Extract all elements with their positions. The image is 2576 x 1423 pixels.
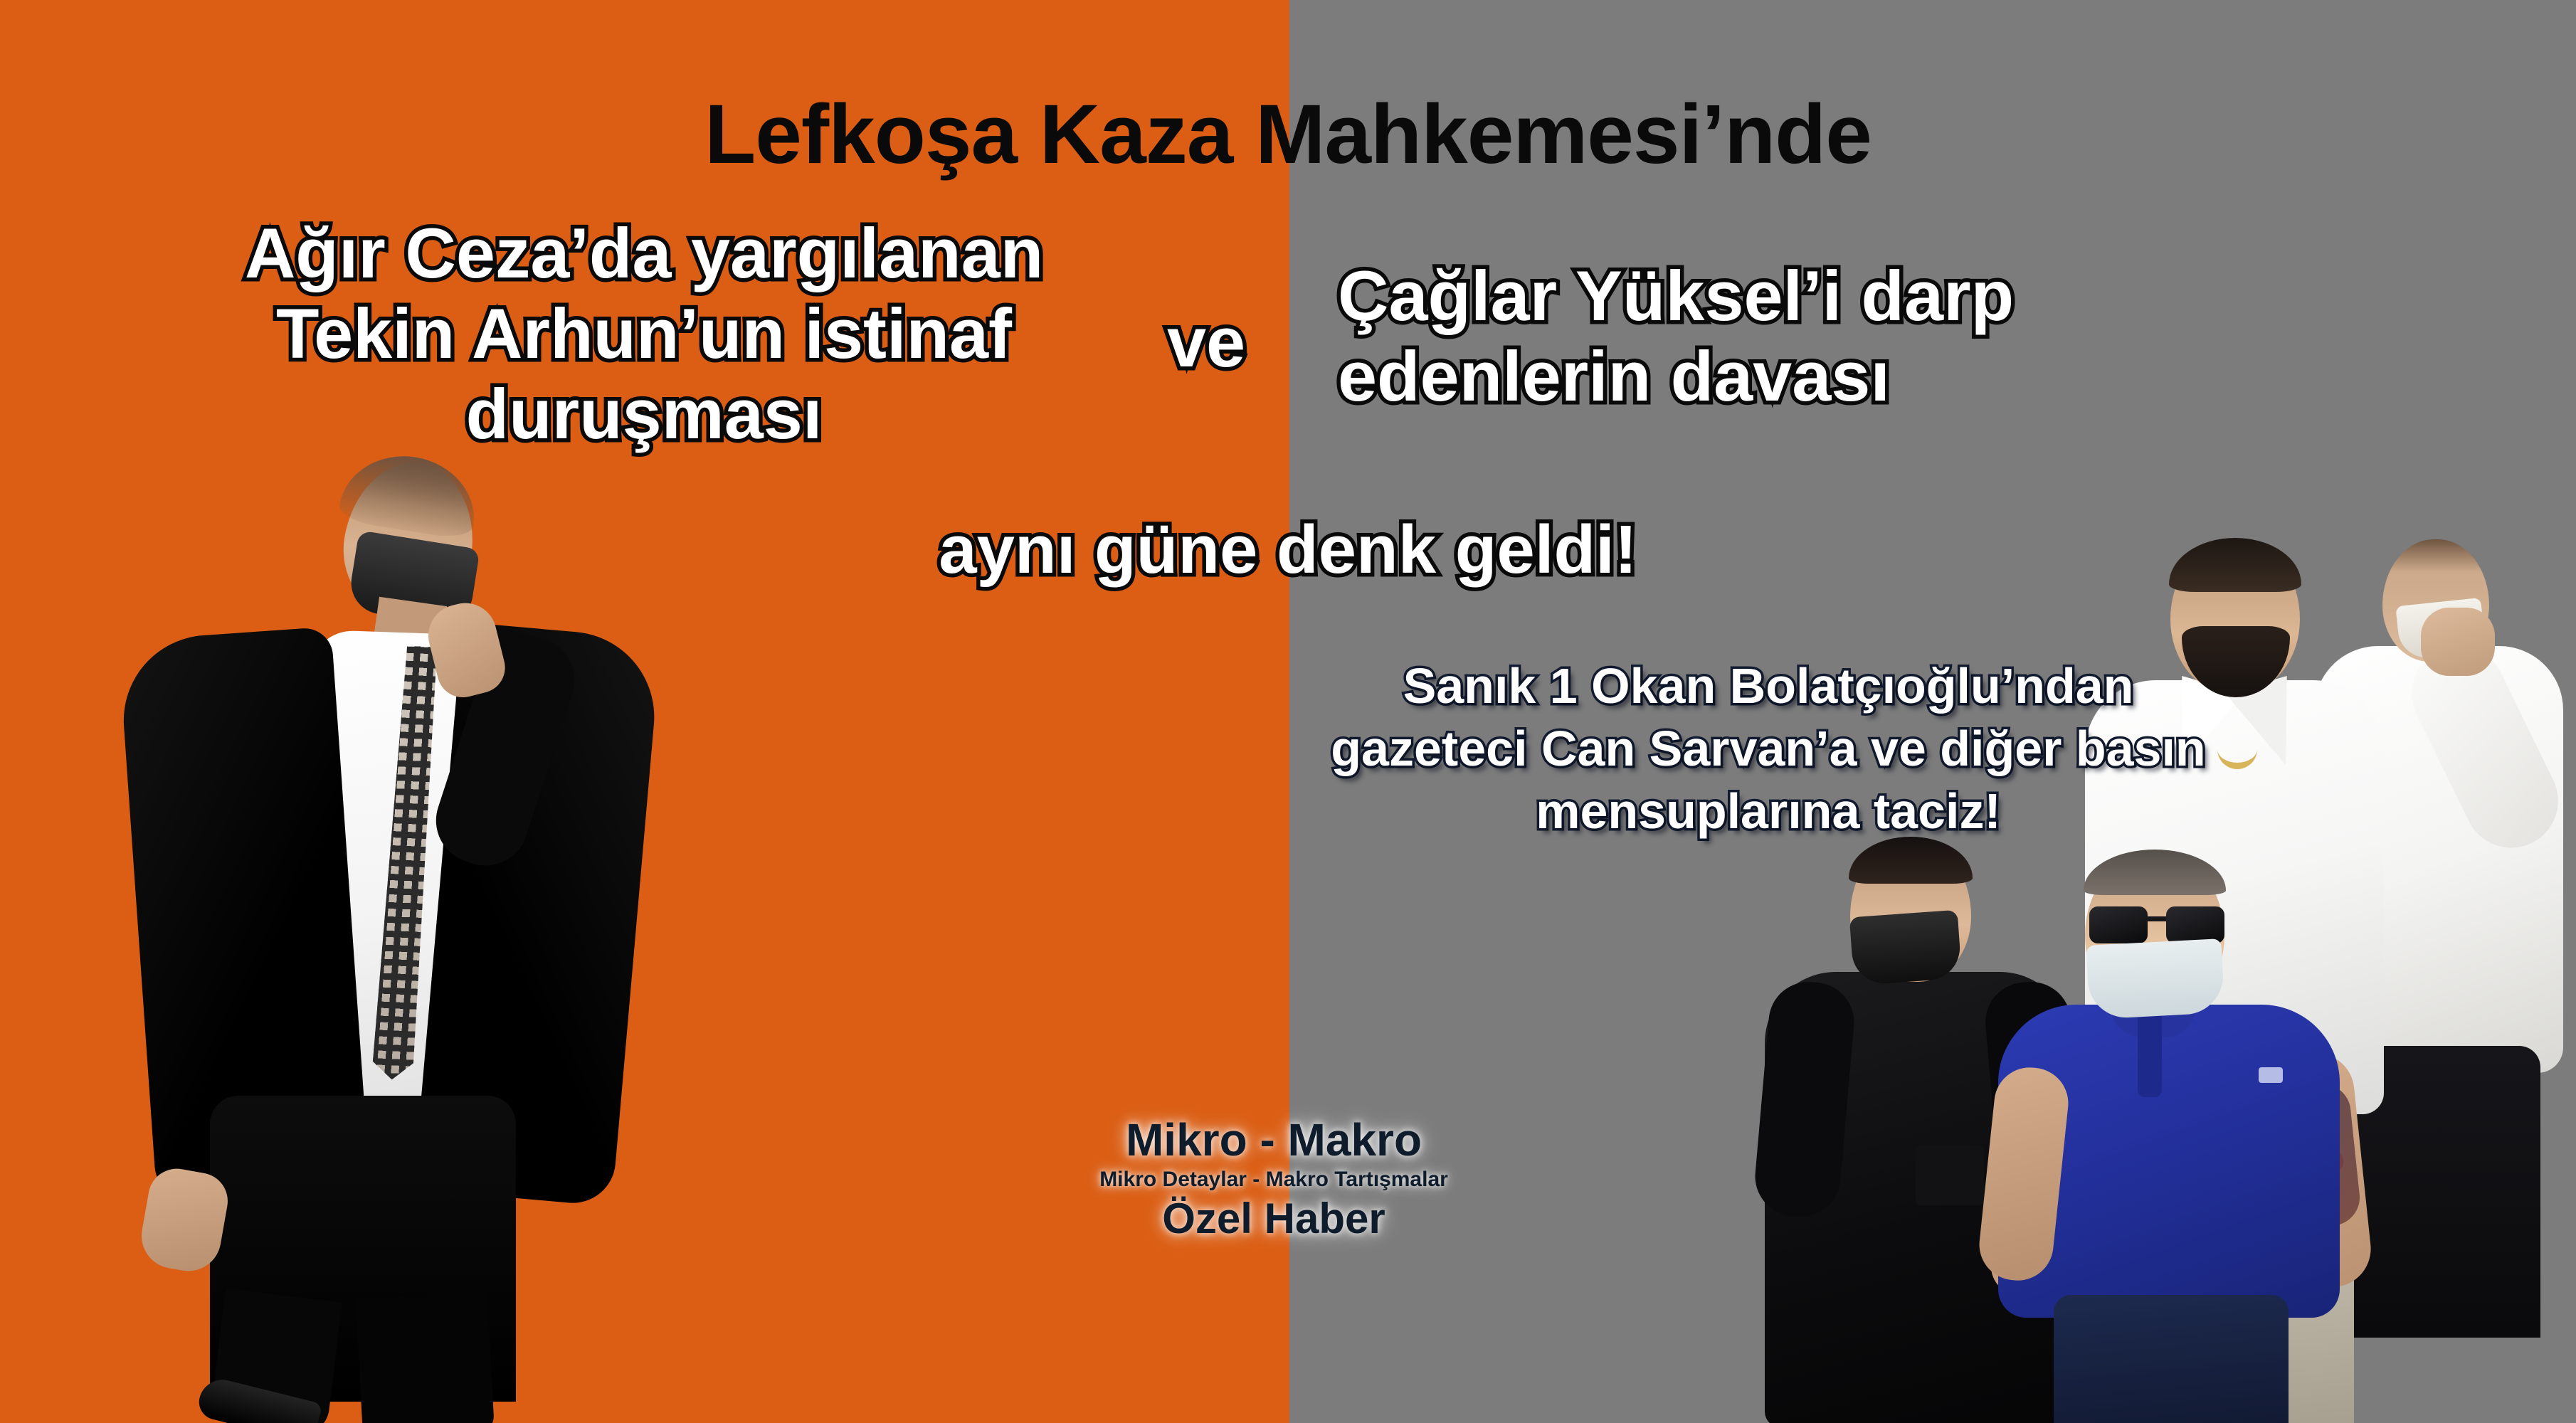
shirt-pocket — [1916, 1146, 1984, 1205]
hand-covering-face — [2421, 608, 2495, 676]
face-mask-icon — [1849, 910, 1962, 985]
face-mask-icon — [2086, 938, 2224, 1020]
subheadline-right-line-2: edenlerin davası — [1338, 337, 2192, 417]
brand-logo: Mikro - Makro Mikro Detaylar - Makro Tar… — [1039, 1117, 1509, 1242]
subheadline-center-line: aynı güne denk geldi! — [0, 511, 2576, 588]
hair — [1849, 837, 1973, 884]
subheadline-left-block: Ağır Ceza’da yargılanan Tekin Arhun’un i… — [128, 213, 1160, 455]
brand-kicker: Özel Haber — [1039, 1195, 1509, 1242]
subheadline-left-line-1: Ağır Ceza’da yargılanan — [128, 213, 1160, 294]
polo-placket — [2138, 1012, 2162, 1097]
sunglasses-icon — [2089, 906, 2224, 943]
brand-tagline: Mikro Detaylar - Makro Tartışmalar — [1039, 1163, 1509, 1195]
paragraph-line-1: Sanık 1 Okan Bolatçıoğlu’ndan — [1324, 655, 2213, 717]
sunglasses-lens-left — [2089, 906, 2148, 943]
sunglasses-bridge — [2148, 916, 2166, 921]
paragraph-line-2: gazeteci Can Sarvan’a ve diğer basın — [1324, 717, 2213, 780]
subheadline-left-line-3: duruşması — [128, 374, 1160, 455]
sunglasses-lens-right — [2166, 906, 2224, 943]
page-title: Lefkoşa Kaza Mahkemesi’nde — [0, 90, 2576, 180]
subheadline-right-block: Çağlar Yüksel’i darp edenlerin davası — [1338, 256, 2192, 417]
person-man-blue-polo — [1985, 854, 2355, 1423]
paragraph-line-3: mensuplarına taciz! — [1324, 780, 2213, 842]
incident-paragraph: Sanık 1 Okan Bolatçıoğlu’ndan gazeteci C… — [1324, 655, 2213, 843]
brand-title: Mikro - Makro — [1039, 1117, 1509, 1163]
subheadline-left-line-2: Tekin Arhun’un istinaf — [128, 294, 1160, 374]
subheadline-conjunction: ve — [1167, 302, 1245, 383]
news-poster: Lefkoşa Kaza Mahkemesi’nde Ağır Ceza’da … — [0, 0, 2576, 1423]
right-leg — [356, 1291, 495, 1423]
hair — [2084, 850, 2226, 895]
person-man-in-black-suit — [125, 455, 637, 1423]
shirt-brand-logo — [2259, 1067, 2283, 1083]
subheadline-right-line-1: Çağlar Yüksel’i darp — [1338, 256, 2192, 337]
jeans — [2054, 1295, 2289, 1423]
